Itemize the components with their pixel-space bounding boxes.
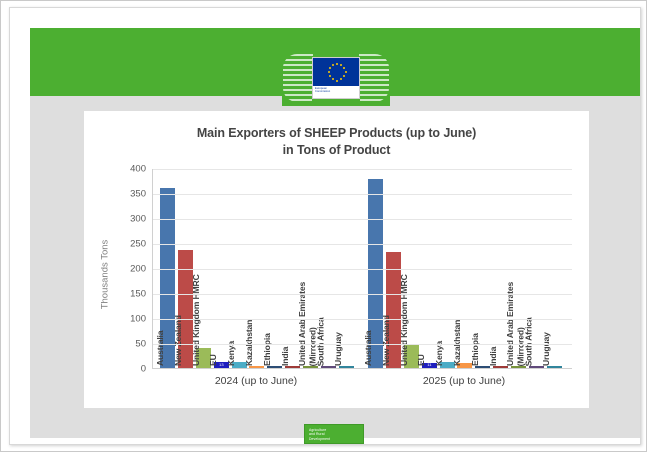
y-axis-tick-label: 50 — [135, 339, 146, 350]
chart-title-line2: in Tons of Product — [84, 142, 589, 159]
gridline — [153, 244, 572, 245]
bar-kenya[interactable] — [440, 362, 455, 369]
agriculture-rural-development-badge: Agriculture and Rural Development — [304, 424, 364, 444]
eu-star-icon — [343, 75, 345, 77]
eu-star-icon — [336, 80, 338, 82]
gridline — [153, 294, 572, 295]
bar-slot[interactable]: Uruguay — [545, 168, 563, 368]
bar-slot[interactable]: Ethiopia — [474, 168, 492, 368]
bar-ethiopia[interactable] — [267, 366, 282, 368]
bar-slot[interactable]: Kazakhstan — [456, 168, 474, 368]
logo-wing-left-icon — [283, 54, 313, 102]
eu-logo-text-line2: Commission — [315, 90, 359, 93]
gridline — [153, 344, 572, 345]
bar-group-2024: AustraliaNew ZealandUnited Kingdom HMRC1… — [159, 168, 355, 368]
gridline — [153, 319, 572, 320]
x-axis-label-2024: 2024 (up to June) — [158, 375, 354, 387]
eu-star-icon — [332, 78, 334, 80]
y-axis-ticks: 400350300250200150100500 — [120, 169, 150, 369]
eu-logo-underbar — [312, 99, 360, 103]
bar-slot[interactable]: United Arab Emirates — [510, 168, 528, 368]
gridline — [153, 269, 572, 270]
bar-united-arab-emirates[interactable] — [511, 366, 526, 368]
bar-ethiopia[interactable] — [475, 366, 490, 368]
bar-india[interactable] — [493, 366, 508, 368]
eu-star-icon — [336, 63, 338, 65]
gridline — [153, 194, 572, 195]
eu-flag-box: European Commission — [312, 57, 360, 99]
bar-united-kingdom-hmrc[interactable] — [404, 344, 419, 368]
bar-uruguay[interactable] — [547, 366, 562, 369]
bar-slot[interactable]: New Zealand — [385, 168, 403, 368]
gridline — [153, 169, 572, 170]
eu-star-icon — [329, 75, 331, 77]
y-axis-tick-label: 100 — [130, 314, 146, 325]
bar-kazakhstan[interactable] — [457, 363, 472, 368]
y-axis-tick-label: 350 — [130, 189, 146, 200]
slide-canvas: European Commission Main Exporters of SH… — [30, 28, 640, 438]
bar-data-label: 11 — [427, 362, 431, 367]
bar-united-kingdom-hmrc[interactable] — [196, 348, 211, 368]
bar-group-2025: AustraliaNew ZealandUnited Kingdom HMRC1… — [367, 168, 563, 368]
bar-kazakhstan[interactable] — [249, 366, 264, 369]
bar-slot[interactable]: New Zealand — [177, 168, 195, 368]
eu-star-icon — [340, 78, 342, 80]
eu-logo-text: European Commission — [313, 86, 359, 98]
bar-slot[interactable]: Kazakhstan — [248, 168, 266, 368]
application-window: European Commission Main Exporters of SH… — [0, 0, 647, 452]
slide-frame: European Commission Main Exporters of SH… — [9, 7, 641, 445]
bar-slot[interactable]: Kenya — [230, 168, 248, 368]
chart-title: Main Exporters of SHEEP Products (up to … — [84, 111, 589, 159]
bar-india[interactable] — [285, 366, 300, 368]
plot-area: AustraliaNew ZealandUnited Kingdom HMRC1… — [152, 169, 572, 369]
bar-slot[interactable]: Kenya — [438, 168, 456, 368]
bar-slot[interactable]: India — [284, 168, 302, 368]
chart-panel: Main Exporters of SHEEP Products (up to … — [84, 111, 589, 408]
eu-star-icon — [345, 71, 347, 73]
eu-star-icon — [332, 64, 334, 66]
eu-star-icon — [328, 71, 330, 73]
x-axis-label-2025: 2025 (up to June) — [366, 375, 562, 387]
bar-australia[interactable] — [160, 188, 175, 368]
bar-slot[interactable]: India — [492, 168, 510, 368]
eu-star-icon — [329, 67, 331, 69]
logo-wing-right-icon — [359, 54, 389, 102]
bar-slot[interactable]: United Kingdom HMRC — [195, 168, 213, 368]
eu-star-icon — [340, 64, 342, 66]
bar-slot[interactable]: 13EU — [212, 168, 230, 368]
y-axis-title: Thousands Tons — [100, 210, 111, 340]
footer-badge-line3: Development — [309, 437, 359, 441]
gridline — [153, 219, 572, 220]
y-axis-tick-label: 250 — [130, 239, 146, 250]
bar-slot[interactable]: 11EU — [420, 168, 438, 368]
bar-australia[interactable] — [368, 179, 383, 368]
bar-south-africa-mirrored[interactable] — [321, 366, 336, 368]
eu-flag-icon — [313, 58, 359, 86]
y-axis-tick-label: 300 — [130, 214, 146, 225]
bar-slot[interactable]: (Mirrored)South Africa — [527, 168, 545, 368]
bar-slot[interactable]: (Mirrored)South Africa — [319, 168, 337, 368]
bar-slot[interactable]: United Arab Emirates — [302, 168, 320, 368]
bar-data-label: 13 — [219, 362, 223, 367]
bar-kenya[interactable] — [232, 362, 247, 368]
chart-title-line1: Main Exporters of SHEEP Products (up to … — [84, 125, 589, 142]
y-axis-tick-label: 150 — [130, 289, 146, 300]
bar-slot[interactable]: United Kingdom HMRC — [403, 168, 421, 368]
y-axis-tick-label: 400 — [130, 164, 146, 175]
bar-new-zealand[interactable] — [178, 250, 193, 368]
y-axis-tick-label: 0 — [141, 364, 146, 375]
bar-slot[interactable]: Uruguay — [337, 168, 355, 368]
plot-wrapper: Thousands Tons 400350300250200150100500 … — [84, 169, 589, 408]
eu-star-icon — [343, 67, 345, 69]
bar-slot[interactable]: Ethiopia — [266, 168, 284, 368]
bar-slot[interactable]: Australia — [159, 168, 177, 368]
footer-badge-text: Agriculture and Rural Development — [309, 428, 359, 441]
european-commission-logo: European Commission — [282, 50, 390, 106]
bar-uruguay[interactable] — [339, 366, 354, 369]
bar-south-africa-mirrored[interactable] — [529, 366, 544, 368]
bar-slot[interactable]: Australia — [367, 168, 385, 368]
y-axis-tick-label: 200 — [130, 264, 146, 275]
bar-united-arab-emirates[interactable] — [303, 366, 318, 368]
